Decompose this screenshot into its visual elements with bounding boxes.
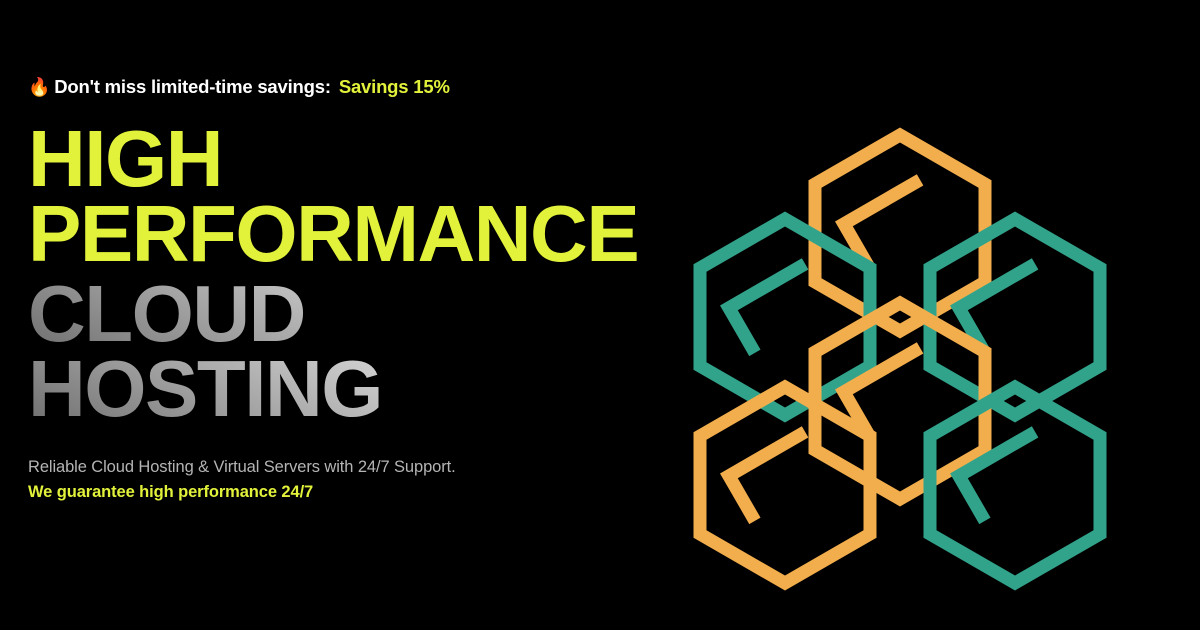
headline: HIGH PERFORMANCE [28,121,688,272]
text-content: 🔥 Don't miss limited-time savings: Savin… [28,78,688,506]
headline-line-2: PERFORMANCE [28,196,688,272]
honeycomb-hexagon-cluster [690,120,1190,520]
promo-banner: 🔥 Don't miss limited-time savings: Savin… [0,0,1200,630]
promo-strip: 🔥 Don't miss limited-time savings: Savin… [28,78,688,97]
headline-line-4: HOSTING [28,351,688,427]
promo-label: Don't miss limited-time savings: [54,78,331,97]
headline-line-3: CLOUD [28,276,688,352]
fire-icon: 🔥 [28,78,50,96]
headline-line-1: HIGH [28,121,688,197]
sub-headline: CLOUD HOSTING [28,276,688,427]
savings-badge: Savings 15% [339,78,450,97]
tagline-secondary: We guarantee high performance 24/7 [28,480,688,506]
tagline: Reliable Cloud Hosting & Virtual Servers… [28,455,688,506]
hexagon-artwork-svg [690,120,1190,520]
tagline-primary: Reliable Cloud Hosting & Virtual Servers… [28,455,688,481]
